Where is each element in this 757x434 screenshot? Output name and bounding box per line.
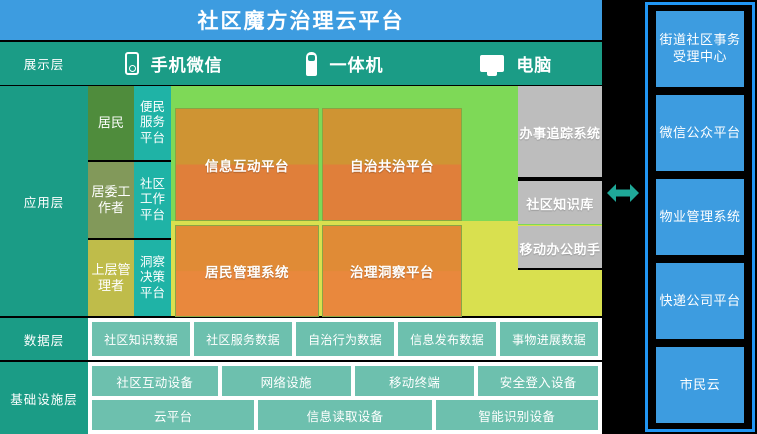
actor-committee-worker[interactable]: 居委工作者 <box>88 162 134 240</box>
role-platform-column: 便民服务平台 社区工作平台 洞察决策平台 <box>134 86 171 316</box>
page-title: 社区魔方治理云平台 <box>0 0 602 40</box>
actor-upper-manager[interactable]: 上层管理者 <box>88 240 134 316</box>
channel-label: 电脑 <box>516 51 552 76</box>
support-system-knowledge-base[interactable]: 社区知识库 <box>518 181 602 225</box>
external-system-property-management[interactable]: 物业管理系统 <box>656 179 744 255</box>
role-platform-community-work[interactable]: 社区工作平台 <box>134 162 171 240</box>
channel-list: 手机微信 一体机 电脑 <box>88 51 602 76</box>
external-system-express-company[interactable]: 快递公司平台 <box>656 263 744 339</box>
infra-chip-secure-login-device[interactable]: 安全登入设备 <box>478 366 598 396</box>
core-platform-resident-management[interactable]: 居民管理系统 <box>175 225 319 317</box>
mobile-phone-icon <box>125 52 139 75</box>
display-layer-label: 展示层 <box>0 42 88 85</box>
desktop-computer-icon <box>480 55 504 72</box>
infra-chip-network-facility[interactable]: 网络设施 <box>222 366 351 396</box>
data-chip-community-service[interactable]: 社区服务数据 <box>194 322 292 356</box>
infra-chip-mobile-terminal[interactable]: 移动终端 <box>355 366 475 396</box>
channel-desktop[interactable]: 电脑 <box>431 51 602 76</box>
core-platform-self-governance[interactable]: 自治共治平台 <box>322 108 462 221</box>
data-chip-community-knowledge[interactable]: 社区知识数据 <box>92 322 190 356</box>
external-system-citizen-cloud[interactable]: 市民云 <box>656 347 744 423</box>
channel-mobile-wechat[interactable]: 手机微信 <box>88 51 259 76</box>
infrastructure-body: 社区互动设备 网络设施 移动终端 安全登入设备 云平台 信息读取设备 智能识别设… <box>88 362 602 434</box>
kiosk-terminal-icon <box>306 52 317 76</box>
backdrop-yellow-band-2 <box>518 272 602 316</box>
data-chip-self-governance[interactable]: 自治行为数据 <box>296 322 394 356</box>
infra-chip-community-interactive-device[interactable]: 社区互动设备 <box>92 366 218 396</box>
data-chip-info-publication[interactable]: 信息发布数据 <box>398 322 496 356</box>
infra-chip-smart-recognition-device[interactable]: 智能识别设备 <box>436 400 598 430</box>
main-platform-panel: 社区魔方治理云平台 展示层 手机微信 一体机 电脑 应用层 <box>0 0 602 434</box>
data-layer-label: 数据层 <box>0 318 88 360</box>
actor-resident[interactable]: 居民 <box>88 86 134 162</box>
role-platform-insight-decision[interactable]: 洞察决策平台 <box>134 240 171 316</box>
role-platform-convenience-service[interactable]: 便民服务平台 <box>134 86 171 162</box>
data-layer-row: 数据层 社区知识数据 社区服务数据 自治行为数据 信息发布数据 事物进展数据 <box>0 318 602 360</box>
infra-chip-cloud-platform[interactable]: 云平台 <box>92 400 254 430</box>
architecture-diagram: 社区魔方治理云平台 展示层 手机微信 一体机 电脑 应用层 <box>0 0 757 434</box>
channel-label: 一体机 <box>329 51 383 76</box>
channel-label: 手机微信 <box>151 51 223 76</box>
infrastructure-layer-label: 基础设施层 <box>0 362 88 434</box>
data-chip-list: 社区知识数据 社区服务数据 自治行为数据 信息发布数据 事物进展数据 <box>88 318 602 360</box>
external-systems-panel: 街道社区事务受理中心 微信公众平台 物业管理系统 快递公司平台 市民云 <box>645 2 755 432</box>
channel-kiosk[interactable]: 一体机 <box>259 51 430 76</box>
display-layer-row: 展示层 手机微信 一体机 电脑 <box>0 42 602 85</box>
infra-chip-info-reading-device[interactable]: 信息读取设备 <box>258 400 431 430</box>
infrastructure-layer-row: 基础设施层 社区互动设备 网络设施 移动终端 安全登入设备 云平台 信息读取设备… <box>0 362 602 434</box>
application-layer-row: 应用层 居民 居委工作者 上层管理者 便民服务平台 社区工作平台 洞察决策平台 <box>0 86 602 316</box>
double-arrow-icon <box>606 181 640 205</box>
support-system-mobile-office[interactable]: 移动办公助手 <box>518 226 602 270</box>
external-system-street-affairs-center[interactable]: 街道社区事务受理中心 <box>656 11 744 87</box>
actor-column: 居民 居委工作者 上层管理者 <box>88 86 134 316</box>
support-system-task-tracking[interactable]: 办事追踪系统 <box>518 86 602 179</box>
core-platform-governance-insight[interactable]: 治理洞察平台 <box>322 225 462 317</box>
infrastructure-row-2: 云平台 信息读取设备 智能识别设备 <box>92 400 598 430</box>
external-system-wechat-public-platform[interactable]: 微信公众平台 <box>656 95 744 171</box>
data-chip-event-progress[interactable]: 事物进展数据 <box>500 322 598 356</box>
application-layer-label: 应用层 <box>0 86 88 316</box>
application-layer-body: 居民 居委工作者 上层管理者 便民服务平台 社区工作平台 洞察决策平台 <box>88 86 602 316</box>
core-platform-info-interaction[interactable]: 信息互动平台 <box>175 108 319 221</box>
infrastructure-row-1: 社区互动设备 网络设施 移动终端 安全登入设备 <box>92 366 598 396</box>
